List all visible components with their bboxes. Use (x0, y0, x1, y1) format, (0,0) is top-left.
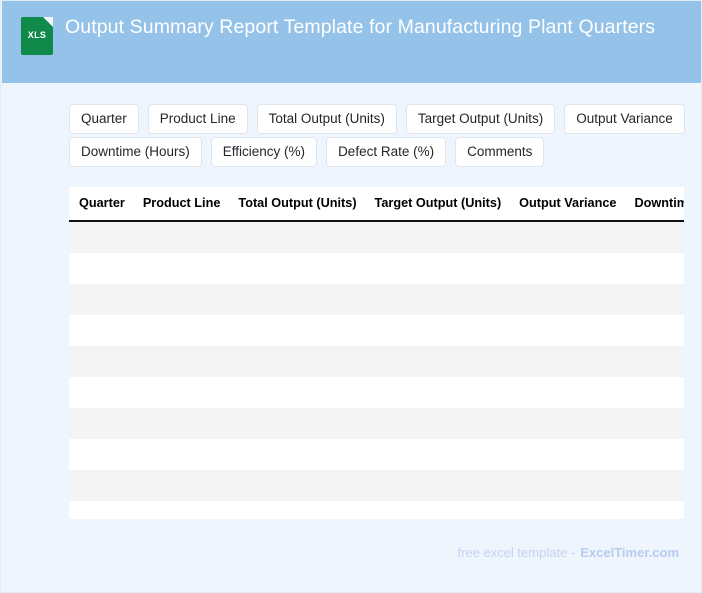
table-cell[interactable] (69, 221, 134, 253)
table-cell[interactable] (134, 377, 230, 408)
table-cell[interactable] (229, 408, 365, 439)
table-row[interactable] (69, 501, 684, 519)
table-cell[interactable] (510, 315, 625, 346)
table-column-header: Target Output (Units) (366, 187, 511, 221)
tag-pill-product-line[interactable]: Product Line (148, 104, 248, 134)
template-table: QuarterProduct LineTotal Output (Units)T… (69, 187, 684, 519)
table-cell[interactable] (134, 315, 230, 346)
tag-pill-comments[interactable]: Comments (455, 137, 544, 167)
table-cell[interactable] (69, 346, 134, 377)
footer-credit: free excel template -ExcelTimer.com (457, 544, 679, 562)
table-cell[interactable] (229, 221, 365, 253)
tag-list: Quarter Product Line Total Output (Units… (69, 104, 702, 170)
table-cell[interactable] (625, 315, 684, 346)
table-cell[interactable] (229, 501, 365, 519)
table-cell[interactable] (625, 501, 684, 519)
table-row[interactable] (69, 470, 684, 501)
footer-credit-text: free excel template - (457, 545, 575, 560)
page-title: Output Summary Report Template for Manuf… (21, 14, 684, 41)
table-cell[interactable] (366, 439, 511, 470)
xls-icon-label: XLS (24, 30, 50, 40)
table-cell[interactable] (366, 377, 511, 408)
table-cell[interactable] (69, 408, 134, 439)
table-cell[interactable] (229, 284, 365, 315)
table-cell[interactable] (625, 408, 684, 439)
table-cell[interactable] (69, 501, 134, 519)
tag-pill-defect-rate[interactable]: Defect Rate (%) (326, 137, 446, 167)
table-cell[interactable] (366, 501, 511, 519)
tag-row-2: Downtime (Hours) Efficiency (%) Defect R… (69, 137, 702, 167)
table-header: QuarterProduct LineTotal Output (Units)T… (69, 187, 684, 221)
table-cell[interactable] (69, 253, 134, 284)
table-row[interactable] (69, 408, 684, 439)
tag-pill-efficiency[interactable]: Efficiency (%) (211, 137, 317, 167)
table-cell[interactable] (134, 346, 230, 377)
table-cell[interactable] (625, 439, 684, 470)
table-row[interactable] (69, 315, 684, 346)
xls-file-icon: XLS (21, 17, 53, 55)
table-row[interactable] (69, 253, 684, 284)
table-cell[interactable] (625, 377, 684, 408)
table-cell[interactable] (134, 221, 230, 253)
table-body (69, 221, 684, 519)
table-cell[interactable] (366, 346, 511, 377)
table-cell[interactable] (134, 284, 230, 315)
table-cell[interactable] (69, 377, 134, 408)
table-cell[interactable] (229, 253, 365, 284)
tag-pill-quarter[interactable]: Quarter (69, 104, 139, 134)
table-cell[interactable] (229, 439, 365, 470)
table-cell[interactable] (229, 470, 365, 501)
table-row[interactable] (69, 284, 684, 315)
table-cell[interactable] (625, 346, 684, 377)
tag-pill-target-output[interactable]: Target Output (Units) (406, 104, 555, 134)
table-cell[interactable] (229, 377, 365, 408)
table-cell[interactable] (510, 221, 625, 253)
table-cell[interactable] (229, 346, 365, 377)
table-cell[interactable] (625, 470, 684, 501)
table-cell[interactable] (69, 315, 134, 346)
table-cell[interactable] (625, 253, 684, 284)
table-column-header: Total Output (Units) (229, 187, 365, 221)
tag-pill-total-output[interactable]: Total Output (Units) (257, 104, 397, 134)
table-cell[interactable] (510, 377, 625, 408)
tag-pill-output-variance[interactable]: Output Variance (564, 104, 685, 134)
table-cell[interactable] (625, 284, 684, 315)
table-cell[interactable] (134, 470, 230, 501)
table-cell[interactable] (366, 221, 511, 253)
table-cell[interactable] (510, 470, 625, 501)
table-row[interactable] (69, 346, 684, 377)
table-cell[interactable] (134, 253, 230, 284)
table-cell[interactable] (510, 408, 625, 439)
template-table-card: QuarterProduct LineTotal Output (Units)T… (69, 187, 684, 519)
page-shell: XLS Output Summary Report Template for M… (0, 0, 702, 593)
table-cell[interactable] (134, 408, 230, 439)
table-row[interactable] (69, 439, 684, 470)
table-cell[interactable] (510, 284, 625, 315)
table-column-header: Downtime (Hours) (625, 187, 684, 221)
table-column-header: Product Line (134, 187, 230, 221)
table-cell[interactable] (510, 253, 625, 284)
table-cell[interactable] (366, 408, 511, 439)
table-cell[interactable] (510, 346, 625, 377)
table-cell[interactable] (366, 315, 511, 346)
table-row[interactable] (69, 377, 684, 408)
table-cell[interactable] (69, 470, 134, 501)
document-header: XLS Output Summary Report Template for M… (2, 1, 702, 83)
table-cell[interactable] (510, 439, 625, 470)
table-row[interactable] (69, 221, 684, 253)
table-cell[interactable] (366, 284, 511, 315)
table-cell[interactable] (134, 501, 230, 519)
table-cell[interactable] (366, 253, 511, 284)
tag-pill-downtime[interactable]: Downtime (Hours) (69, 137, 202, 167)
table-cell[interactable] (510, 501, 625, 519)
table-cell[interactable] (229, 315, 365, 346)
table-header-row: QuarterProduct LineTotal Output (Units)T… (69, 187, 684, 221)
footer-brand-link[interactable]: ExcelTimer.com (580, 545, 679, 560)
table-column-header: Output Variance (510, 187, 625, 221)
table-cell[interactable] (69, 439, 134, 470)
table-cell[interactable] (69, 284, 134, 315)
table-cell[interactable] (134, 439, 230, 470)
table-cell[interactable] (625, 221, 684, 253)
table-column-header: Quarter (69, 187, 134, 221)
tag-row-1: Quarter Product Line Total Output (Units… (69, 104, 702, 134)
table-cell[interactable] (366, 470, 511, 501)
